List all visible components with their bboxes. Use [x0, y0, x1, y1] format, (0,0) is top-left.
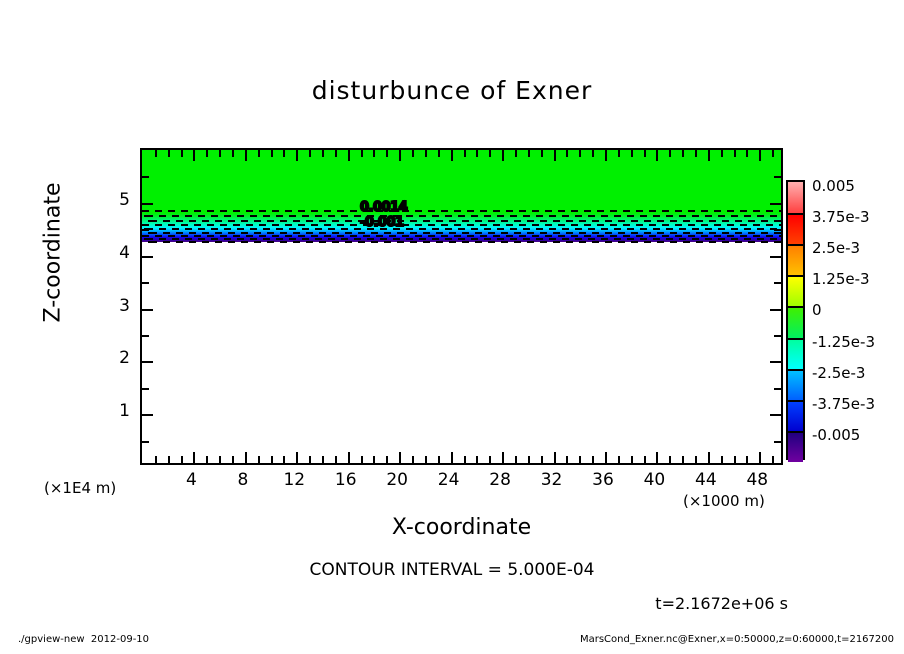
x-axis-units-label: (×1000 m): [683, 492, 765, 510]
axis-tick: [438, 150, 440, 157]
axis-tick: [774, 388, 781, 390]
axis-tick: [774, 229, 781, 231]
axis-tick: [592, 456, 594, 463]
colorbar-band: [788, 213, 803, 244]
axis-tick: [618, 150, 620, 157]
axis-tick: [682, 456, 684, 463]
axis-tick: [271, 456, 273, 463]
y-axis-title: Z-coordinate: [41, 138, 66, 368]
axis-tick: [708, 452, 710, 463]
contour-interval-label: CONTOUR INTERVAL = 5.000E-04: [0, 560, 904, 580]
axis-tick: [373, 150, 375, 157]
axis-tick: [168, 456, 170, 463]
axis-tick: [155, 456, 157, 463]
contour-line: [142, 238, 781, 240]
axis-tick: [335, 150, 337, 157]
axis-tick: [373, 456, 375, 463]
axis-tick: [759, 452, 761, 463]
axis-tick: [464, 150, 466, 157]
axis-tick: [528, 456, 530, 463]
axis-tick: [746, 456, 748, 463]
axis-tick: [772, 456, 774, 463]
colorbar-band: [788, 400, 803, 431]
axis-tick: [142, 256, 153, 258]
y-tick-label: 3: [100, 296, 130, 316]
colorbar-band: [788, 182, 803, 213]
axis-tick: [489, 456, 491, 463]
page-title: disturbunce of Exner: [0, 76, 904, 105]
colorbar-band: [788, 275, 803, 306]
y-tick-label: 5: [100, 190, 130, 210]
axis-tick: [193, 452, 195, 463]
axis-tick: [464, 456, 466, 463]
contour-line: [142, 210, 781, 212]
colorbar-band: [788, 369, 803, 400]
axis-tick: [348, 150, 350, 161]
axis-tick: [386, 150, 388, 157]
axis-tick: [644, 456, 646, 463]
axis-tick: [322, 150, 324, 157]
contour-line: [142, 241, 781, 243]
axis-tick: [245, 452, 247, 463]
axis-tick: [770, 414, 781, 416]
axis-tick: [721, 150, 723, 157]
y-tick-label: 4: [100, 243, 130, 263]
axis-tick: [155, 150, 157, 157]
footer-source-label: MarsCond_Exner.nc@Exner,x=0:50000,z=0:60…: [580, 634, 894, 645]
axis-tick: [142, 282, 149, 284]
axis-tick: [335, 456, 337, 463]
colorbar-band: [788, 431, 803, 462]
axis-tick: [142, 176, 149, 178]
axis-tick: [425, 150, 427, 157]
axis-tick: [541, 456, 543, 463]
x-tick-label: 32: [532, 470, 572, 490]
axis-tick: [669, 150, 671, 157]
axis-tick: [566, 150, 568, 157]
axis-tick: [682, 150, 684, 157]
axis-tick: [412, 150, 414, 157]
axis-tick: [309, 456, 311, 463]
axis-tick: [721, 456, 723, 463]
axis-tick: [592, 150, 594, 157]
axis-tick: [438, 456, 440, 463]
colorbar-tick-label: -0.005: [812, 426, 860, 444]
axis-tick: [708, 150, 710, 161]
axis-tick: [566, 456, 568, 463]
axis-tick: [142, 388, 149, 390]
axis-tick: [605, 452, 607, 463]
time-stamp-label: t=2.1672e+06 s: [0, 594, 788, 613]
axis-tick: [772, 150, 774, 157]
y-tick-label: 1: [100, 401, 130, 421]
x-tick-label: 44: [686, 470, 726, 490]
x-tick-label: 16: [326, 470, 366, 490]
axis-tick: [476, 456, 478, 463]
axis-tick: [451, 150, 453, 161]
axis-tick: [232, 150, 234, 157]
axis-tick: [618, 456, 620, 463]
axis-tick: [412, 456, 414, 463]
axis-tick: [770, 203, 781, 205]
contour-line: [142, 228, 781, 230]
axis-tick: [181, 150, 183, 157]
axis-tick: [631, 150, 633, 157]
colorbar-tick-label: 2.5e-3: [812, 239, 860, 257]
axis-tick: [399, 452, 401, 463]
axis-tick: [734, 150, 736, 157]
axis-tick: [142, 414, 153, 416]
axis-tick: [283, 150, 285, 157]
axis-tick: [746, 150, 748, 157]
axis-tick: [348, 452, 350, 463]
axis-tick: [399, 150, 401, 161]
axis-tick: [361, 456, 363, 463]
x-tick-label: 8: [223, 470, 263, 490]
x-tick-label: 40: [634, 470, 674, 490]
field-uniform-region: [142, 150, 781, 213]
axis-tick: [770, 256, 781, 258]
axis-tick: [644, 150, 646, 157]
axis-tick: [386, 456, 388, 463]
axis-tick: [656, 452, 658, 463]
colorbar-band: [788, 306, 803, 337]
axis-tick: [554, 150, 556, 161]
axis-tick: [554, 452, 556, 463]
axis-tick: [489, 150, 491, 157]
axis-tick: [142, 441, 149, 443]
contour-line-group: [142, 208, 781, 244]
plot-frame: 0.0014-0.001: [140, 148, 783, 465]
axis-tick: [181, 456, 183, 463]
y-axis-units-label: (×1E4 m): [44, 479, 116, 497]
axis-tick: [605, 150, 607, 161]
axis-tick: [193, 150, 195, 161]
axis-tick: [142, 335, 149, 337]
axis-tick: [476, 150, 478, 157]
colorbar-tick-label: 3.75e-3: [812, 208, 870, 226]
axis-tick: [695, 456, 697, 463]
axis-tick: [515, 456, 517, 463]
colorbar-tick-label: -1.25e-3: [812, 333, 875, 351]
axis-tick: [515, 150, 517, 157]
plot-page: disturbunce of Exner 0.0014-0.001 481216…: [0, 0, 904, 654]
axis-tick: [656, 150, 658, 161]
x-tick-label: 12: [274, 470, 314, 490]
axis-tick: [579, 456, 581, 463]
contour-line: [142, 235, 781, 237]
colorbar-band: [788, 244, 803, 275]
colorbar-tick-label: 1.25e-3: [812, 270, 870, 288]
axis-tick: [168, 150, 170, 157]
axis-tick: [579, 150, 581, 157]
axis-tick: [774, 335, 781, 337]
axis-tick: [219, 456, 221, 463]
axis-tick: [142, 361, 153, 363]
axis-tick: [296, 150, 298, 161]
contour-line: [142, 232, 781, 234]
y-tick-label: 2: [100, 348, 130, 368]
axis-tick: [258, 150, 260, 157]
colorbar-tick-label: 0.005: [812, 177, 855, 195]
x-tick-label: 36: [583, 470, 623, 490]
axis-tick: [206, 456, 208, 463]
contour-line: [142, 215, 781, 217]
axis-tick: [502, 150, 504, 161]
axis-tick: [541, 150, 543, 157]
axis-tick: [774, 282, 781, 284]
axis-tick: [669, 456, 671, 463]
colorbar-tick-label: 0: [812, 301, 822, 319]
colorbar-tick-label: -3.75e-3: [812, 395, 875, 413]
axis-tick: [309, 150, 311, 157]
colorbar: [786, 180, 805, 460]
axis-tick: [322, 456, 324, 463]
footer-command-label: ./gpview-new 2012-09-10: [18, 634, 149, 645]
axis-tick: [770, 309, 781, 311]
colorbar-tick-label: -2.5e-3: [812, 364, 865, 382]
axis-tick: [774, 441, 781, 443]
contour-line: [142, 220, 781, 222]
plot-data-area: 0.0014-0.001: [142, 150, 781, 463]
axis-tick: [425, 456, 427, 463]
x-axis-title: X-coordinate: [140, 515, 783, 540]
axis-tick: [296, 452, 298, 463]
axis-tick: [245, 150, 247, 161]
axis-tick: [451, 452, 453, 463]
contour-line: [142, 224, 781, 226]
colorbar-band: [788, 338, 803, 369]
axis-tick: [283, 456, 285, 463]
axis-tick: [361, 150, 363, 157]
contour-value-label: 0.0014: [360, 200, 407, 215]
axis-tick: [206, 150, 208, 157]
axis-tick: [258, 456, 260, 463]
axis-tick: [271, 150, 273, 157]
x-tick-label: 28: [480, 470, 520, 490]
axis-tick: [502, 452, 504, 463]
axis-tick: [142, 309, 153, 311]
axis-tick: [142, 203, 153, 205]
x-tick-label: 20: [377, 470, 417, 490]
axis-tick: [232, 456, 234, 463]
x-tick-label: 24: [429, 470, 469, 490]
axis-tick: [219, 150, 221, 157]
axis-tick: [734, 456, 736, 463]
axis-tick: [770, 361, 781, 363]
x-tick-label: 4: [171, 470, 211, 490]
contour-value-label: -0.001: [360, 215, 404, 230]
axis-tick: [695, 150, 697, 157]
axis-tick: [631, 456, 633, 463]
axis-tick: [142, 229, 149, 231]
axis-tick: [774, 176, 781, 178]
axis-tick: [528, 150, 530, 157]
axis-tick: [759, 150, 761, 161]
x-tick-label: 48: [737, 470, 777, 490]
